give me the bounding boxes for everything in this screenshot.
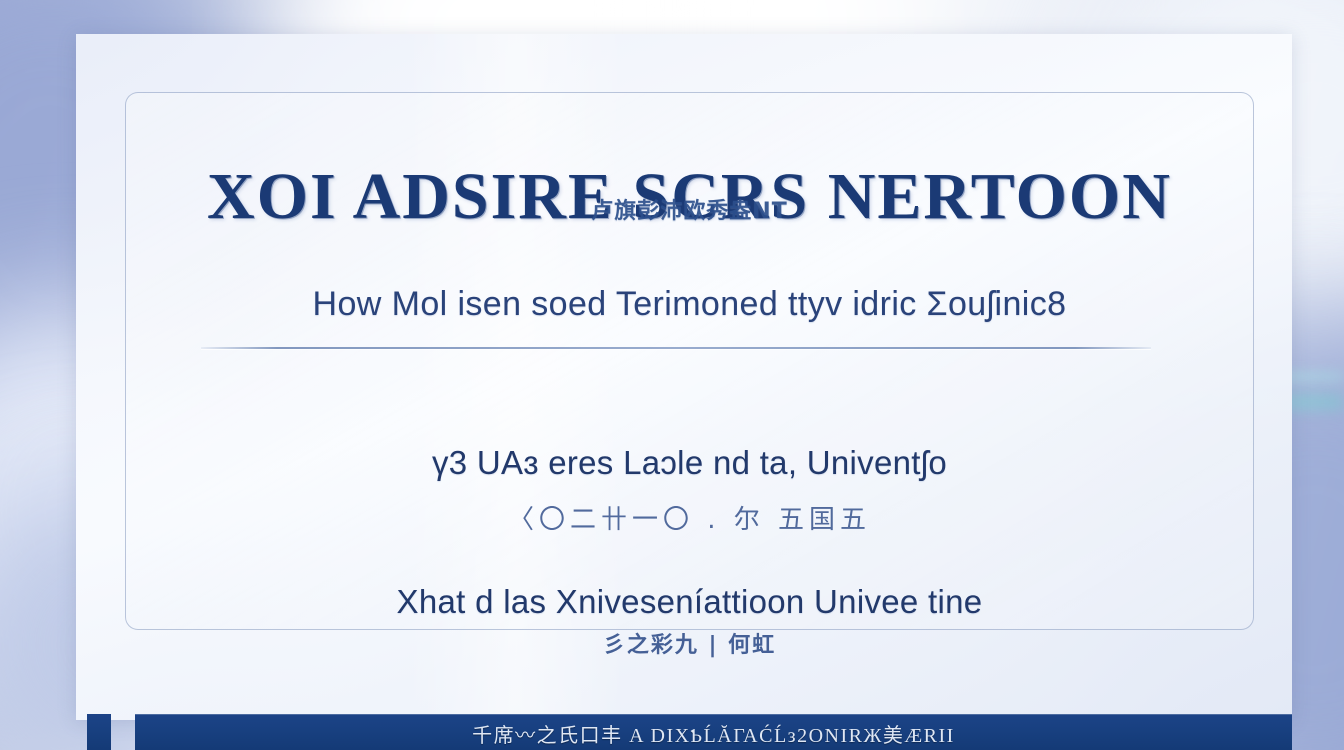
footer-band-stub — [87, 714, 111, 750]
slide-subtitle-cjk: 卢旗彭沛欧秀盎NT — [126, 193, 1253, 225]
bullet-item-1-glyph-note: 〈〇二卄一〇 . 尔 五国五 — [126, 499, 1253, 536]
bullet-item-2-glyph-note: 彡之彩九 | 何虹 — [126, 627, 1253, 659]
slide-card: XOI ADSIRE SCRS NERTOON 卢旗彭沛欧秀盎NT How Mo… — [76, 34, 1292, 720]
bullet-item-1: γ3 UAɜ eres Laɔle nd ta, Univentʃo — [126, 444, 1253, 482]
bullet-item-2: Xhat d las Xniveseníattioon Univee tine — [126, 583, 1253, 621]
footer-band: 千席〰之氏口丰 A DIXƄĹĂΓΑĆĹз2ONIRЖ美ÆRII — [135, 714, 1292, 750]
section-divider — [201, 347, 1151, 349]
slide-lead-text: How Mol isen soed Terimoned ttyv idric Σ… — [126, 285, 1253, 324]
footer-band-highlight — [135, 714, 1292, 715]
slide-stage: XOI ADSIRE SCRS NERTOON 卢旗彭沛欧秀盎NT How Mo… — [0, 0, 1344, 750]
content-frame: XOI ADSIRE SCRS NERTOON 卢旗彭沛欧秀盎NT How Mo… — [125, 92, 1254, 630]
footer-caption: 千席〰之氏口丰 A DIXƄĹĂΓΑĆĹз2ONIRЖ美ÆRII — [135, 719, 1292, 748]
